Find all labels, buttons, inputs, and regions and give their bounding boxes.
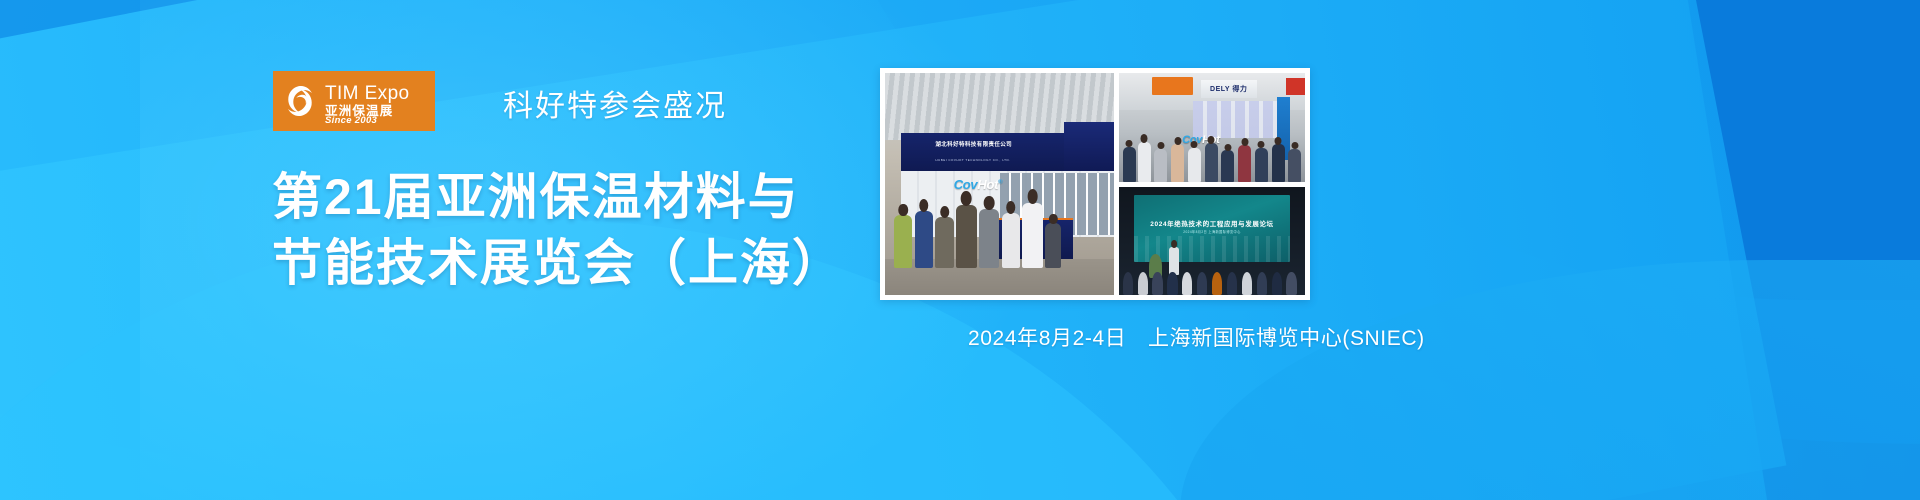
logo-text-block: TIM Expo 亚洲保温展 (325, 84, 410, 118)
hall-orange-sign (1152, 77, 1193, 94)
booth-visitors (885, 166, 1114, 268)
photo-collage: 湖北科好特科技有限责任公司 HUBEI COVHOT TECHNOLOGY CO… (880, 68, 1310, 300)
collage-right-column: DELY 得力 CovHot (1119, 73, 1305, 295)
swirl-circle-mark-icon (281, 82, 319, 120)
forum-screen-title: 2024年绝热技术的工程应用与发展论坛 (1150, 218, 1273, 228)
hall-red-sign (1286, 78, 1305, 94)
booth-banner-subtext: HUBEI COVHOT TECHNOLOGY CO., LTD. (935, 158, 1072, 162)
headline-line-2: 节能技术展览会（上海） (272, 230, 844, 296)
headline-line-1: 第21届亚洲保温材料与 (272, 164, 844, 230)
banner-headline: 第21届亚洲保温材料与 节能技术展览会（上海） (272, 164, 844, 296)
logo-since-text: Since 2003 (325, 115, 377, 126)
banner-subtitle: 科好特参会盛况 (503, 81, 727, 125)
forum-stage-screen: 2024年绝热技术的工程应用与发展论坛 2024年8月2日 上海新国际博览中心 (1134, 195, 1290, 262)
hall-crowd (1119, 125, 1305, 181)
photo-exhibition-booth: 湖北科好特科技有限责任公司 HUBEI COVHOT TECHNOLOGY CO… (885, 73, 1114, 295)
forum-screen-subtitle: 2024年8月2日 上海新国际博览中心 (1183, 229, 1240, 234)
photo-exhibition-hall: DELY 得力 CovHot (1119, 73, 1305, 182)
event-date-venue: 2024年8月2-4日 上海新国际博览中心(SNIEC) (968, 322, 1425, 352)
logo-title: TIM Expo (325, 84, 410, 103)
hall-dely-sign: DELY 得力 (1201, 80, 1257, 98)
tim-expo-logo: TIM Expo 亚洲保温展 Since 2003 (273, 71, 435, 131)
booth-banner-text: 湖北科好特科技有限责任公司 (935, 140, 1072, 148)
exhibition-promo-banner: TIM Expo 亚洲保温展 Since 2003 科好特参会盛况 第21届亚洲… (0, 0, 1920, 500)
forum-audience (1119, 262, 1305, 295)
photo-forum-presentation: 2024年绝热技术的工程应用与发展论坛 2024年8月2日 上海新国际博览中心 (1119, 187, 1305, 296)
